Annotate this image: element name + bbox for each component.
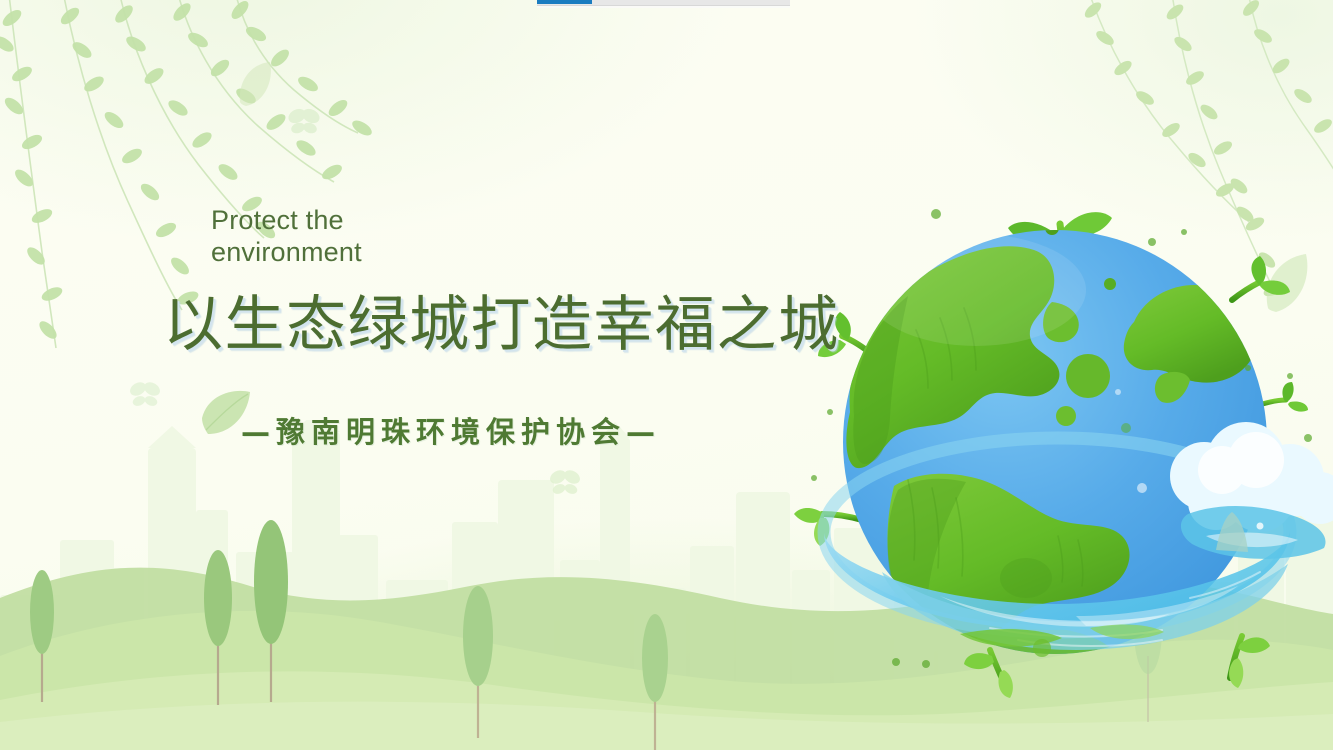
eyebrow-text: Protect the environment [163, 205, 421, 269]
earth-globe-illustration [790, 180, 1333, 700]
subtitle-text: —豫南明珠环境保护协会— [241, 409, 823, 451]
page-title: 以生态绿城打造幸福之城 [163, 295, 823, 355]
slide-text-block: Protect the environment 以生态绿城打造幸福之城 —豫南明… [163, 205, 823, 451]
presentation-slide: Protect the environment 以生态绿城打造幸福之城 —豫南明… [0, 0, 1333, 750]
